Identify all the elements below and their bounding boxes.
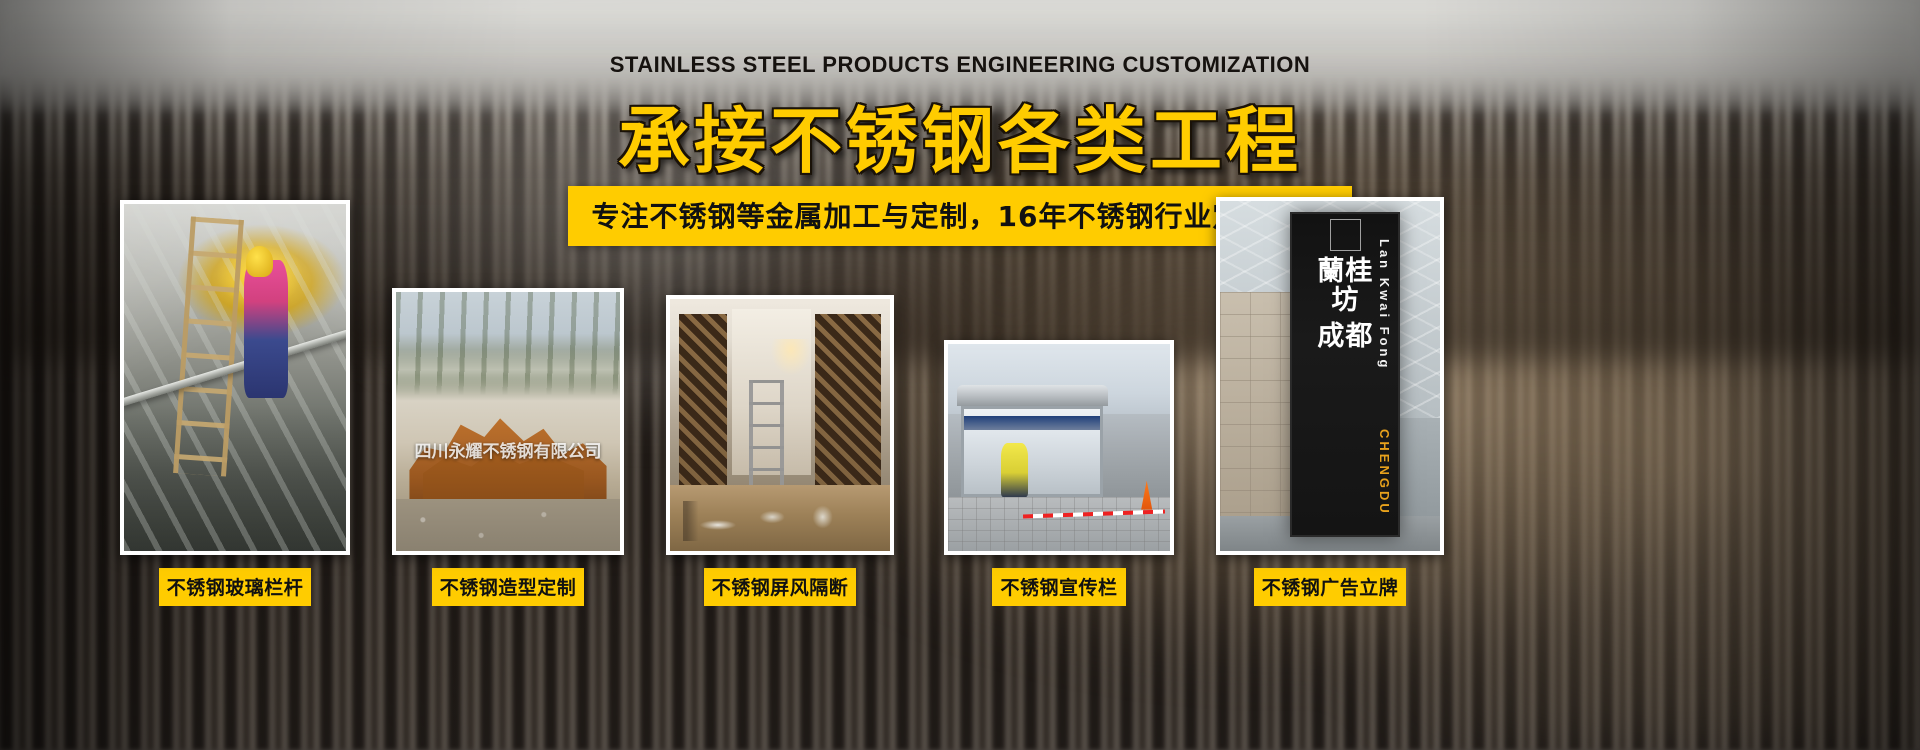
photo-corten-sculpture: 四川永耀不锈钢有限公司 <box>396 292 620 551</box>
gravel-ground <box>396 499 620 551</box>
pylon-sign-title-cn-2: 坊 <box>1331 286 1359 315</box>
worker-hi-vis-icon <box>1001 443 1028 497</box>
pylon-sign-city-cn: 成都 <box>1317 322 1373 351</box>
photo-bulletin-board <box>948 344 1170 551</box>
gallery-caption-5: 不锈钢广告立牌 <box>1254 568 1407 606</box>
display-case-icon <box>961 406 1103 497</box>
photo-frame-2: 四川永耀不锈钢有限公司 <box>392 288 624 555</box>
gallery: 不锈钢玻璃栏杆 四川永耀不锈钢有限公司 不锈钢造型定制 <box>0 0 1920 750</box>
caption-row-2: 不锈钢造型定制 <box>392 555 624 606</box>
step-ladder-icon <box>749 380 784 496</box>
gallery-caption-1: 不锈钢玻璃栏杆 <box>159 568 312 606</box>
screen-panel-right-icon <box>815 314 881 506</box>
shelter-roof <box>957 385 1108 406</box>
gallery-caption-3: 不锈钢屏风隔断 <box>704 568 857 606</box>
pylon-sign-title-cn: 蘭桂 <box>1317 257 1373 286</box>
pylon-sign-latin-top: Lan Kwai Fong <box>1377 239 1392 370</box>
photo-frame-3 <box>666 295 894 555</box>
promo-banner: STAINLESS STEEL PRODUCTS ENGINEERING CUS… <box>0 0 1920 750</box>
gallery-item-4[interactable]: 不锈钢宣传栏 <box>944 340 1174 606</box>
caption-row-1: 不锈钢玻璃栏杆 <box>120 555 350 606</box>
caption-row-3: 不锈钢屏风隔断 <box>666 555 894 606</box>
worker-figure-icon <box>244 260 288 399</box>
gallery-caption-2: 不锈钢造型定制 <box>432 568 585 606</box>
paving-ground <box>948 497 1170 551</box>
gallery-item-2[interactable]: 四川永耀不锈钢有限公司 不锈钢造型定制 <box>392 288 624 606</box>
logo-badge-icon <box>1330 219 1362 251</box>
gallery-item-5[interactable]: 蘭桂 坊 成都 Lan Kwai Fong CHENGDU 不锈钢广告立牌 <box>1216 197 1444 606</box>
photo-advertising-pylon: 蘭桂 坊 成都 Lan Kwai Fong CHENGDU <box>1220 201 1440 551</box>
tools-on-table <box>683 501 877 541</box>
traffic-cone-icon <box>1141 481 1152 510</box>
pylon-sign-latin-bottom: CHENGDU <box>1377 429 1392 516</box>
screen-panel-left-icon <box>679 314 727 506</box>
caption-row-5: 不锈钢广告立牌 <box>1216 555 1444 606</box>
ceiling-light-icon <box>771 339 811 374</box>
pylon-sign-icon: 蘭桂 坊 成都 Lan Kwai Fong CHENGDU <box>1290 212 1400 538</box>
gallery-caption-4: 不锈钢宣传栏 <box>992 568 1125 606</box>
stone-wall <box>1220 292 1299 523</box>
case-header-band <box>964 416 1100 430</box>
photo-glass-railing <box>124 204 346 551</box>
gallery-item-1[interactable]: 不锈钢玻璃栏杆 <box>120 200 350 606</box>
gallery-item-3[interactable]: 不锈钢屏风隔断 <box>666 295 894 606</box>
caption-row-4: 不锈钢宣传栏 <box>944 555 1174 606</box>
photo-screen-partition <box>670 299 890 551</box>
photo-frame-4 <box>944 340 1174 555</box>
photo-frame-1 <box>120 200 350 555</box>
hard-hat-icon <box>246 246 273 277</box>
photo-frame-5: 蘭桂 坊 成都 Lan Kwai Fong CHENGDU <box>1216 197 1444 555</box>
